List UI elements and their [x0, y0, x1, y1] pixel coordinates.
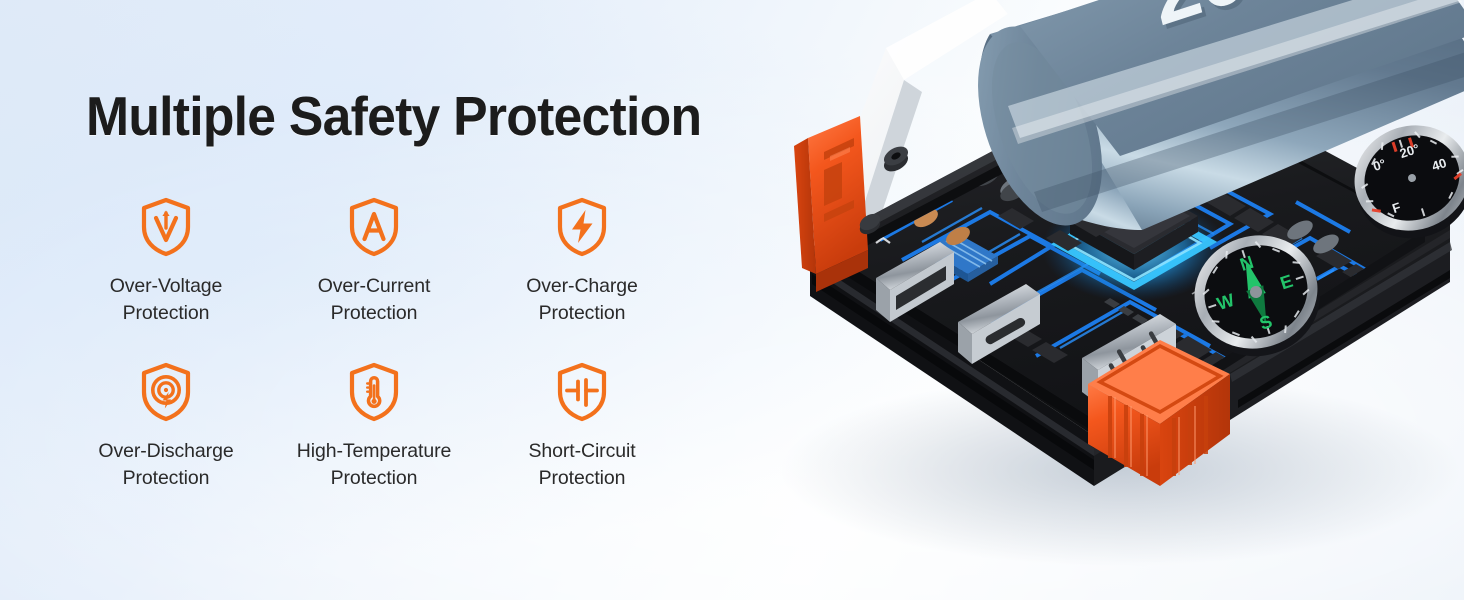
shield-voltage-icon — [137, 196, 195, 258]
feature-item-high-temperature: High-Temperature Protection — [270, 355, 478, 520]
bumper-rear-left — [794, 116, 868, 292]
shield-short-circuit-icon — [553, 361, 611, 423]
feature-label: Over-Discharge Protection — [98, 438, 233, 492]
feature-item-over-voltage: Over-Voltage Protection — [62, 190, 270, 355]
shield-current-icon — [345, 196, 403, 258]
shield-bolt-icon — [553, 196, 611, 258]
feature-grid: Over-Voltage Protection Over-Current Pro… — [62, 190, 722, 520]
feature-label: Over-Charge Protection — [526, 273, 638, 327]
feature-label: Short-Circuit Protection — [528, 438, 635, 492]
feature-label: High-Temperature Protection — [297, 438, 451, 492]
shield-thermometer-icon — [345, 361, 403, 423]
feature-item-over-charge: Over-Charge Protection — [478, 190, 686, 355]
feature-label: Over-Voltage Protection — [110, 273, 223, 327]
feature-label: Over-Current Protection — [318, 273, 431, 327]
copy-column: Multiple Safety Protection Over-Voltage … — [0, 0, 760, 600]
page-title: Multiple Safety Protection — [86, 88, 701, 145]
feature-item-short-circuit: Short-Circuit Protection — [478, 355, 686, 520]
feature-item-over-current: Over-Current Protection — [270, 190, 478, 355]
safety-protection-banner: Multiple Safety Protection Over-Voltage … — [0, 0, 1464, 600]
product-image-power-bank-cutaway: 20000mAh 20000mAh — [690, 0, 1464, 600]
shield-discharge-icon — [137, 361, 195, 423]
feature-item-over-discharge: Over-Discharge Protection — [62, 355, 270, 520]
